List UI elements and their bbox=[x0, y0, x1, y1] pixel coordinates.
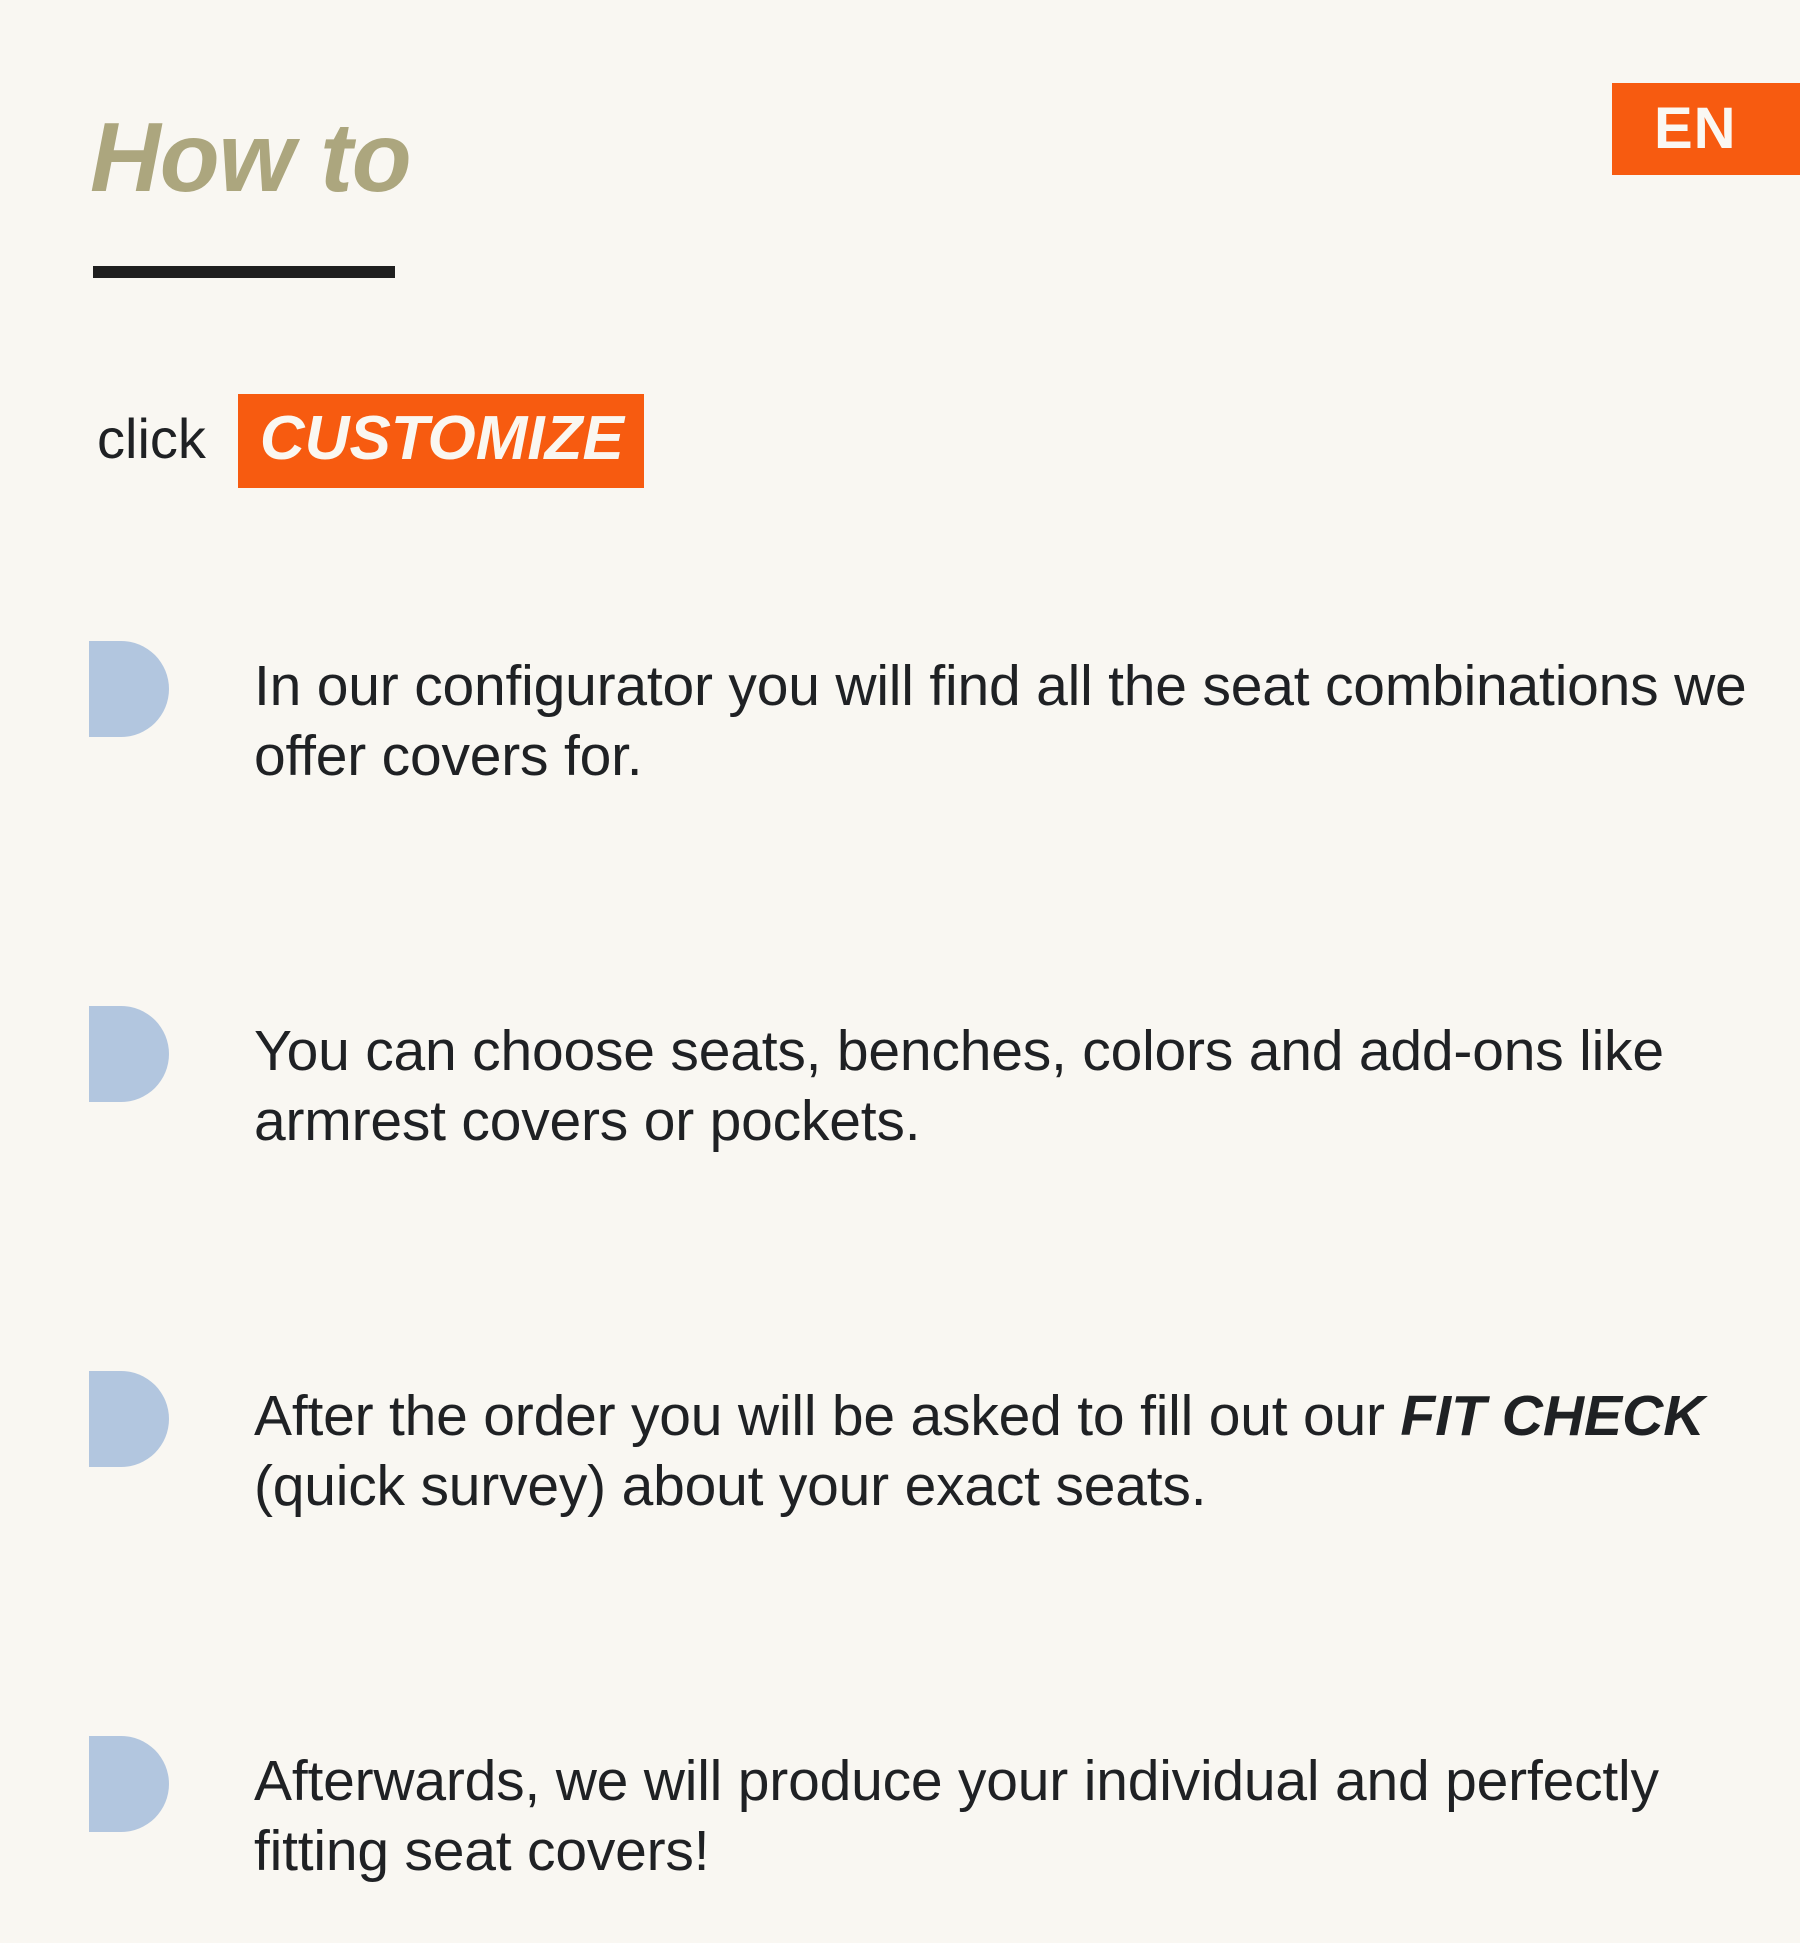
list-item: In our configurator you will find all th… bbox=[89, 595, 1749, 848]
step-text: Afterwards, we will produce your individ… bbox=[254, 1747, 1749, 1886]
step-text: After the order you will be asked to fil… bbox=[254, 1382, 1749, 1521]
title-underline-rule bbox=[93, 266, 395, 278]
step-text-part: After the order you will be asked to fil… bbox=[254, 1384, 1400, 1448]
steps-list: In our configurator you will find all th… bbox=[89, 595, 1749, 1943]
list-item: Afterwards, we will produce your individ… bbox=[89, 1690, 1749, 1943]
language-badge[interactable]: EN bbox=[1612, 83, 1800, 175]
half-circle-bullet-icon bbox=[89, 1736, 169, 1832]
half-circle-bullet-icon bbox=[89, 1006, 169, 1102]
step-text-part: You can choose seats, benches, colors an… bbox=[254, 1019, 1664, 1153]
language-badge-label: EN bbox=[1654, 100, 1737, 158]
cta-prefix-label: click bbox=[97, 411, 206, 471]
page-title: How to bbox=[90, 108, 411, 206]
page-title-block: How to bbox=[90, 108, 411, 206]
half-circle-bullet-icon bbox=[89, 641, 169, 737]
step-text: In our configurator you will find all th… bbox=[254, 652, 1749, 791]
step-text: You can choose seats, benches, colors an… bbox=[254, 1017, 1749, 1156]
half-circle-bullet-icon bbox=[89, 1371, 169, 1467]
step-text-part: In our configurator you will find all th… bbox=[254, 654, 1747, 788]
how-to-card: EN How to click CUSTOMIZE In our configu… bbox=[0, 0, 1800, 1800]
step-text-tail: (quick survey) about your exact seats. bbox=[254, 1454, 1206, 1518]
cta-row: click CUSTOMIZE bbox=[97, 394, 644, 488]
list-item: After the order you will be asked to fil… bbox=[89, 1325, 1749, 1578]
list-item: You can choose seats, benches, colors an… bbox=[89, 960, 1749, 1213]
step-text-part: Afterwards, we will produce your individ… bbox=[254, 1749, 1659, 1883]
customize-button-label: CUSTOMIZE bbox=[260, 408, 624, 474]
step-text-emphasis: FIT CHECK bbox=[1400, 1384, 1704, 1448]
customize-button[interactable]: CUSTOMIZE bbox=[238, 394, 644, 488]
